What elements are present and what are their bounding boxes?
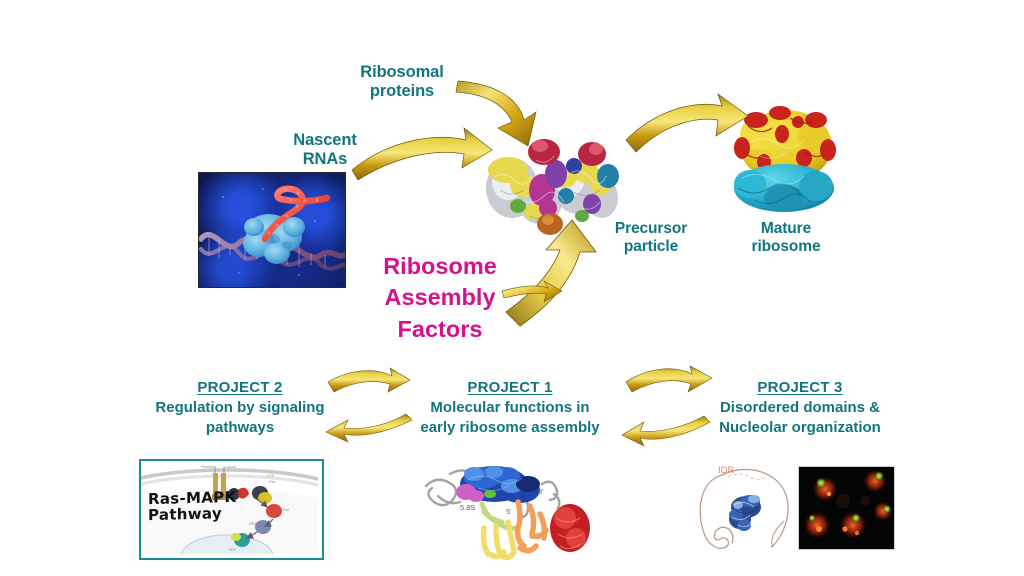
project-1-title: PROJECT 1: [404, 379, 616, 396]
idr-domain-cartoon-svg: IDR: [692, 455, 796, 559]
transcription-illustration-svg: [199, 173, 345, 287]
project-2-block: PROJECT 2 Regulation by signaling pathwa…: [124, 379, 356, 438]
project-3-block: PROJECT 3 Disordered domains & Nucleolar…: [692, 379, 908, 438]
project-3-description: Disordered domains & Nucleolar organizat…: [692, 398, 908, 438]
label-precursor-particle: Precursor particle: [583, 220, 719, 255]
svg-text:Ligand: Ligand: [225, 465, 236, 469]
svg-text:ERK: ERK: [229, 548, 237, 552]
project-2-title: PROJECT 2: [124, 379, 356, 396]
figure-canvas: Receptor Ligand Ras Raf MEK ERK GTP Ras-…: [0, 0, 1024, 576]
nucleolar-fluorescence-svg: [799, 467, 892, 547]
project-3-title: PROJECT 3: [692, 379, 908, 396]
nucleolar-fluorescence-micrograph: [798, 466, 895, 550]
pre-rrna-structure-svg: 5.8S 5' 3': [420, 456, 598, 566]
label-nascent-rnas: Nascent RNAs: [250, 131, 400, 169]
project-1-description: Molecular functions in early ribosome as…: [404, 398, 616, 438]
ras-mapk-pathway-diagram: Receptor Ligand Ras Raf MEK ERK GTP Ras-…: [139, 459, 324, 560]
label-ribosomal-proteins: Ribosomal proteins: [322, 63, 482, 101]
annotation-idr: IDR: [718, 465, 735, 476]
svg-text:Ras: Ras: [269, 480, 276, 484]
annotation-3-prime: 3': [538, 487, 544, 496]
annotation-5-prime: 5': [506, 507, 512, 516]
mature-ribosome-structure-svg: [720, 104, 848, 216]
pre-rrna-structure: 5.8S 5' 3': [420, 456, 598, 566]
project-1-block: PROJECT 1 Molecular functions in early r…: [404, 379, 616, 438]
label-mature-ribosome: Mature ribosome: [718, 220, 854, 255]
mature-ribosome-structure: [720, 104, 848, 216]
svg-text:GTP: GTP: [267, 474, 275, 478]
svg-text:MEK: MEK: [249, 522, 257, 526]
label-ribosome-assembly-factors: Ribosome Assembly Factors: [352, 251, 528, 345]
ras-mapk-overlay-text: Ras-MAPK Pathway: [148, 490, 236, 524]
svg-text:Raf: Raf: [283, 508, 289, 512]
idr-domain-cartoon: IDR: [692, 455, 796, 559]
transcription-illustration: [198, 172, 346, 288]
annotation-5-8s: 5.8S: [460, 503, 475, 512]
svg-text:Receptor: Receptor: [201, 465, 216, 469]
project-2-description: Regulation by signaling pathways: [124, 398, 356, 438]
